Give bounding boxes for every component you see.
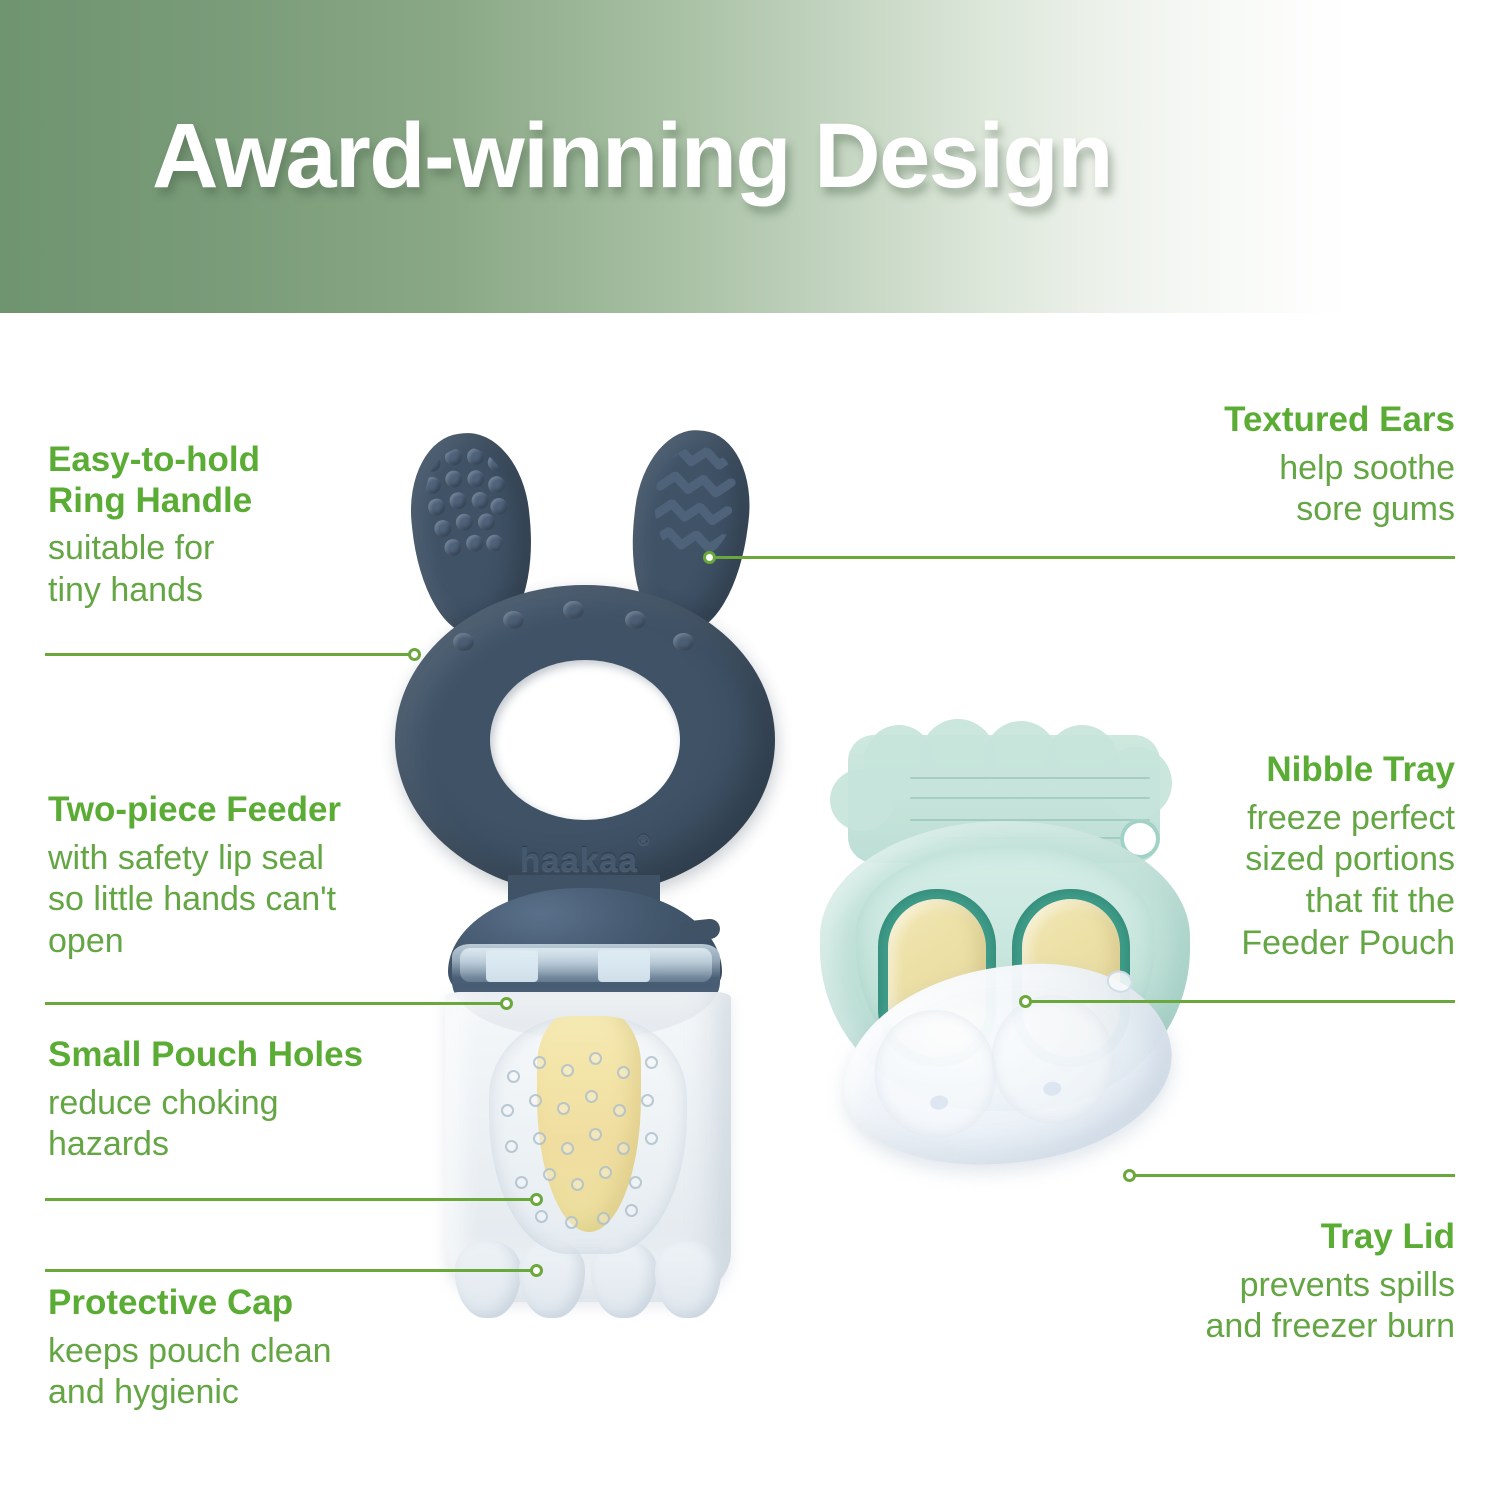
- leader-line-tray-lid: [1130, 1174, 1455, 1177]
- callout-body-protective-cap: keeps pouch clean and hygienic: [48, 1331, 488, 1415]
- ear-zigzag-texture: [648, 442, 743, 563]
- feeder-collar-window-left: [486, 950, 538, 982]
- feeder-collar-window-right: [598, 950, 650, 982]
- leader-dot-protective-cap: [530, 1264, 543, 1277]
- leader-dot-nibble-tray: [1019, 995, 1032, 1008]
- callout-body-textured-ears: help soothe sore gums: [1035, 448, 1455, 532]
- callout-protective-cap: Protective Cap keeps pouch clean and hyg…: [48, 1283, 488, 1414]
- silicone-feeder-pouch: [489, 1016, 687, 1254]
- leader-line-nibble-tray: [1026, 1000, 1455, 1003]
- infographic-page: Award-winning Design: [0, 0, 1500, 1500]
- callout-textured-ears: Textured Ears help soothe sore gums: [1035, 400, 1455, 531]
- brand-registered-mark: ®: [638, 832, 650, 849]
- leader-line-textured-ears: [710, 556, 1455, 559]
- leader-dot-tray-lid: [1123, 1169, 1136, 1182]
- callout-nibble-tray: Nibble Tray freeze perfect sized portion…: [1035, 750, 1455, 965]
- leader-line-small-pouch-holes: [45, 1198, 537, 1201]
- callout-body-ring-handle: suitable for tiny hands: [48, 528, 468, 612]
- leader-dot-ring-handle: [408, 648, 421, 661]
- callout-heading-two-piece-feeder: Two-piece Feeder: [48, 790, 488, 831]
- callout-heading-tray-lid: Tray Lid: [1035, 1217, 1455, 1258]
- callout-heading-nibble-tray: Nibble Tray: [1035, 750, 1455, 791]
- tray-lid-lobe-left: [867, 1003, 1004, 1145]
- callout-tray-lid: Tray Lid prevents spills and freezer bur…: [1035, 1217, 1455, 1348]
- page-title: Award-winning Design: [152, 104, 1112, 209]
- callout-body-nibble-tray: freeze perfect sized portions that fit t…: [1035, 798, 1455, 965]
- callout-heading-ring-handle: Easy-to-hold Ring Handle: [48, 440, 468, 521]
- leader-dot-two-piece-feeder: [500, 997, 513, 1010]
- brand-logo-text: haakaa: [520, 841, 638, 878]
- callout-heading-small-pouch-holes: Small Pouch Holes: [48, 1035, 488, 1076]
- callout-heading-protective-cap: Protective Cap: [48, 1283, 488, 1324]
- tray-lid-lobe-right: [984, 988, 1121, 1130]
- callout-body-tray-lid: prevents spills and freezer burn: [1035, 1265, 1455, 1349]
- safety-lip-seal-tab: [679, 918, 721, 942]
- leader-line-ring-handle: [45, 653, 415, 656]
- ring-handle-opening: [490, 660, 680, 820]
- callout-body-small-pouch-holes: reduce choking hazards: [48, 1083, 488, 1167]
- leader-dot-small-pouch-holes: [530, 1193, 543, 1206]
- leader-line-protective-cap: [45, 1269, 537, 1272]
- callout-two-piece-feeder: Two-piece Feeder with safety lip seal so…: [48, 790, 488, 963]
- food-portion-in-pouch: [537, 1016, 641, 1232]
- callout-ring-handle: Easy-to-hold Ring Handle suitable for ti…: [48, 440, 468, 612]
- header-banner: Award-winning Design: [0, 0, 1500, 313]
- callout-small-pouch-holes: Small Pouch Holes reduce choking hazards: [48, 1035, 488, 1166]
- callout-body-two-piece-feeder: with safety lip seal so little hands can…: [48, 838, 488, 963]
- leader-line-two-piece-feeder: [45, 1002, 507, 1005]
- leader-dot-textured-ears: [703, 551, 716, 564]
- callout-heading-textured-ears: Textured Ears: [1035, 400, 1455, 441]
